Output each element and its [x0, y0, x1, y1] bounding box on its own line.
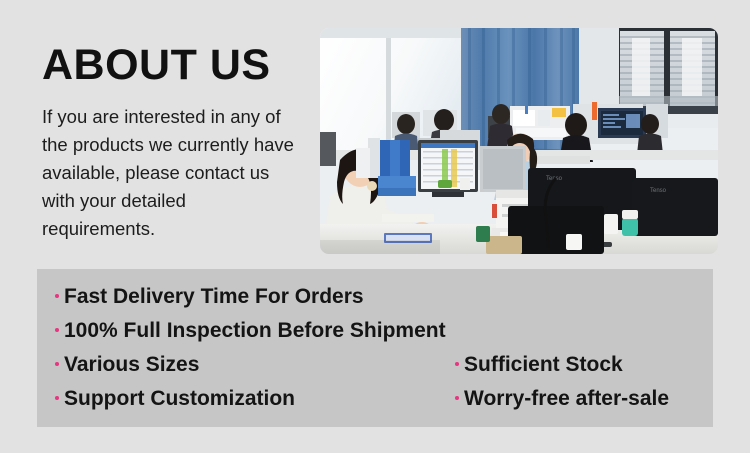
office-photo: Tenso Tenso	[320, 28, 718, 254]
feature-label: Sufficient Stock	[464, 353, 623, 376]
bullet-dot-icon	[455, 362, 459, 366]
feature-label: Various Sizes	[64, 353, 199, 376]
feature-label: 100% Full Inspection Before Shipment	[64, 319, 446, 342]
about-us-banner: ABOUT US If you are interested in any of…	[0, 0, 750, 453]
feature-item: Support Customization	[55, 387, 455, 410]
bullet-dot-icon	[55, 294, 59, 298]
monitor-back-foreground-left	[508, 206, 604, 254]
feature-label: Worry-free after-sale	[464, 387, 669, 410]
feature-item: Worry-free after-sale	[455, 387, 695, 410]
office-photo-illustration: Tenso Tenso	[320, 28, 718, 254]
feature-item: Various Sizes	[55, 353, 455, 376]
about-text-block: ABOUT US If you are interested in any of…	[42, 44, 310, 244]
features-panel: Fast Delivery Time For Orders 100% Full …	[37, 269, 713, 427]
monitor-back-foreground-right: Tenso	[632, 178, 718, 236]
features-list: Fast Delivery Time For Orders 100% Full …	[55, 280, 695, 416]
about-paragraph: If you are interested in any of the prod…	[42, 103, 304, 244]
page-title: ABOUT US	[42, 44, 310, 87]
bullet-dot-icon	[55, 396, 59, 400]
feature-item: 100% Full Inspection Before Shipment	[55, 319, 695, 342]
feature-item: Sufficient Stock	[455, 353, 695, 376]
feature-label: Fast Delivery Time For Orders	[64, 285, 364, 308]
bullet-dot-icon	[55, 328, 59, 332]
bullet-dot-icon	[455, 396, 459, 400]
bullet-dot-icon	[55, 362, 59, 366]
svg-text:Tenso: Tenso	[650, 188, 667, 194]
feature-item: Fast Delivery Time For Orders	[55, 285, 695, 308]
feature-label: Support Customization	[64, 387, 295, 410]
